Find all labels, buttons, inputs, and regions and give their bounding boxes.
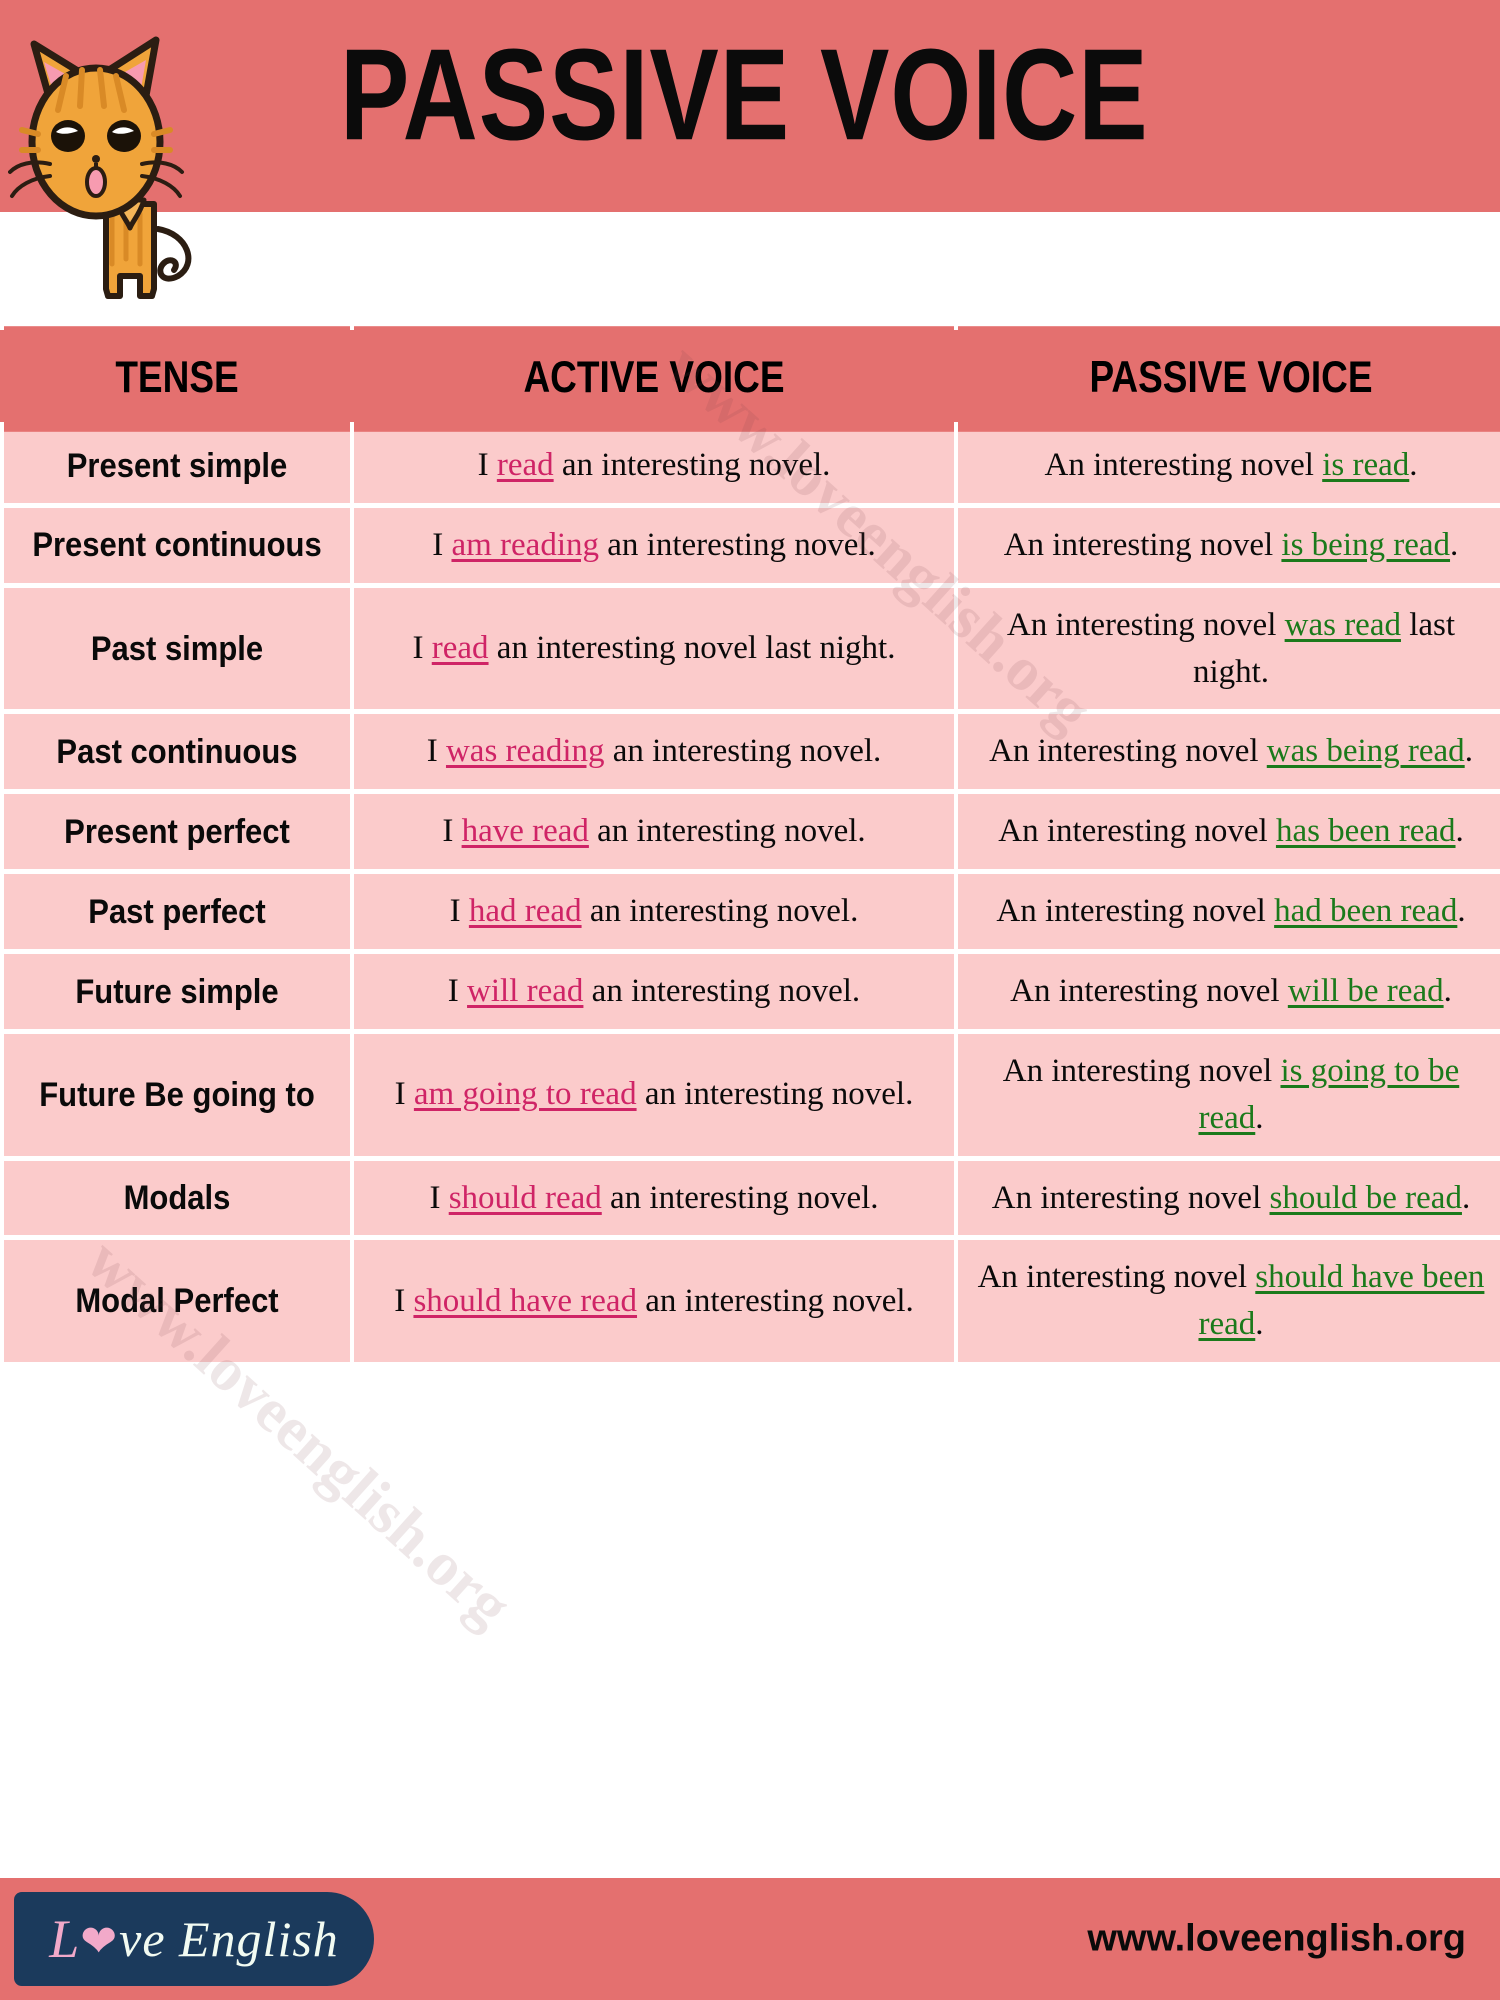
logo-text: L❤ve English bbox=[49, 1908, 339, 1970]
cartoon-cat-icon bbox=[8, 14, 238, 314]
cell-active-voice: I have read an interesting novel. bbox=[354, 794, 954, 869]
table-row: Past perfectI had read an interesting no… bbox=[4, 874, 1500, 949]
sentence-text: I should read an interesting novel. bbox=[366, 1175, 942, 1222]
table-row: Present perfectI have read an interestin… bbox=[4, 794, 1500, 869]
active-verb-highlight: have read bbox=[462, 813, 589, 849]
passive-verb-highlight: should have been read bbox=[1198, 1259, 1484, 1342]
sentence-text: An interesting novel was read last night… bbox=[970, 602, 1492, 696]
tense-label: Present perfect bbox=[16, 808, 338, 855]
active-verb-highlight: read bbox=[432, 630, 489, 666]
cell-active-voice: I read an interesting novel. bbox=[354, 428, 954, 503]
tense-label: Future Be going to bbox=[16, 1071, 338, 1118]
table-body: Present simpleI read an interesting nove… bbox=[4, 428, 1500, 1362]
passive-verb-highlight: was read bbox=[1285, 607, 1401, 643]
passive-verb-highlight: had been read bbox=[1274, 893, 1457, 929]
active-verb-highlight: am reading bbox=[451, 527, 599, 563]
sentence-text: I read an interesting novel last night. bbox=[366, 625, 942, 672]
page-title: PASSIVE VOICE bbox=[340, 28, 1149, 164]
sentence-text: An interesting novel had been read. bbox=[970, 888, 1492, 935]
tense-label: Past perfect bbox=[16, 888, 338, 935]
cell-passive-voice: An interesting novel is being read. bbox=[958, 508, 1500, 583]
cell-active-voice: I should have read an interesting novel. bbox=[354, 1240, 954, 1362]
table-row: Future simpleI will read an interesting … bbox=[4, 954, 1500, 1029]
active-verb-highlight: read bbox=[497, 447, 554, 483]
tense-label: Past simple bbox=[16, 625, 338, 672]
heart-icon: ❤ bbox=[80, 1920, 118, 1964]
sentence-text: I had read an interesting novel. bbox=[366, 888, 942, 935]
active-verb-highlight: should read bbox=[449, 1180, 602, 1216]
column-header-active-voice: ACTIVE VOICE bbox=[354, 326, 954, 432]
passive-verb-highlight: is read bbox=[1322, 447, 1409, 483]
cell-tense: Present simple bbox=[4, 428, 350, 503]
cell-active-voice: I am going to read an interesting novel. bbox=[354, 1034, 954, 1156]
table-row: Present continuousI am reading an intere… bbox=[4, 508, 1500, 583]
cell-tense: Past simple bbox=[4, 588, 350, 710]
sentence-text: An interesting novel is being read. bbox=[970, 522, 1492, 569]
cell-passive-voice: An interesting novel was read last night… bbox=[958, 588, 1500, 710]
active-verb-highlight: will read bbox=[467, 973, 583, 1009]
cell-tense: Past perfect bbox=[4, 874, 350, 949]
column-header-passive-voice: PASSIVE VOICE bbox=[958, 326, 1500, 432]
sentence-text: I am going to read an interesting novel. bbox=[366, 1071, 942, 1118]
sentence-text: An interesting novel is going to be read… bbox=[970, 1048, 1492, 1142]
cell-active-voice: I will read an interesting novel. bbox=[354, 954, 954, 1029]
cell-tense: Past continuous bbox=[4, 714, 350, 789]
table-row: ModalsI should read an interesting novel… bbox=[4, 1161, 1500, 1236]
logo-letter-l: L bbox=[49, 1908, 80, 1970]
sentence-text: I will read an interesting novel. bbox=[366, 968, 942, 1015]
cell-passive-voice: An interesting novel should have been re… bbox=[958, 1240, 1500, 1362]
table-row: Future Be going toI am going to read an … bbox=[4, 1034, 1500, 1156]
table-row: Present simpleI read an interesting nove… bbox=[4, 428, 1500, 503]
sentence-text: An interesting novel was being read. bbox=[970, 728, 1492, 775]
table-row: Past simpleI read an interesting novel l… bbox=[4, 588, 1500, 710]
active-verb-highlight: was reading bbox=[446, 733, 605, 769]
cell-passive-voice: An interesting novel should be read. bbox=[958, 1161, 1500, 1236]
table-row: Modal PerfectI should have read an inter… bbox=[4, 1240, 1500, 1362]
table-row: Past continuousI was reading an interest… bbox=[4, 714, 1500, 789]
passive-verb-highlight: will be read bbox=[1288, 973, 1444, 1009]
cell-tense: Present perfect bbox=[4, 794, 350, 869]
sentence-text: I should have read an interesting novel. bbox=[366, 1278, 942, 1325]
cell-passive-voice: An interesting novel was being read. bbox=[958, 714, 1500, 789]
cell-passive-voice: An interesting novel is read. bbox=[958, 428, 1500, 503]
cell-active-voice: I should read an interesting novel. bbox=[354, 1161, 954, 1236]
active-verb-highlight: had read bbox=[469, 893, 582, 929]
cell-tense: Future Be going to bbox=[4, 1034, 350, 1156]
voice-table-container: TENSE ACTIVE VOICE PASSIVE VOICE Present… bbox=[0, 330, 1500, 1367]
sentence-text: An interesting novel has been read. bbox=[970, 808, 1492, 855]
cell-tense: Modals bbox=[4, 1161, 350, 1236]
column-header-tense: TENSE bbox=[4, 326, 350, 432]
love-english-logo[interactable]: L❤ve English bbox=[14, 1892, 374, 1986]
sentence-text: An interesting novel will be read. bbox=[970, 968, 1492, 1015]
sentence-text: I am reading an interesting novel. bbox=[366, 522, 942, 569]
tense-label: Future simple bbox=[16, 968, 338, 1015]
active-verb-highlight: am going to read bbox=[414, 1076, 637, 1112]
tense-label: Modals bbox=[16, 1175, 338, 1222]
tense-label: Present simple bbox=[16, 442, 338, 489]
footer-band: L❤ve English www.loveenglish.org bbox=[0, 1878, 1500, 2000]
cell-active-voice: I was reading an interesting novel. bbox=[354, 714, 954, 789]
cell-active-voice: I am reading an interesting novel. bbox=[354, 508, 954, 583]
table-header-row: TENSE ACTIVE VOICE PASSIVE VOICE bbox=[4, 335, 1500, 423]
passive-verb-highlight: is going to be read bbox=[1198, 1053, 1459, 1136]
sentence-text: I read an interesting novel. bbox=[366, 442, 942, 489]
logo-rest-text: ve English bbox=[119, 1910, 339, 1968]
passive-verb-highlight: is being read bbox=[1281, 527, 1450, 563]
tense-label: Past continuous bbox=[16, 728, 338, 775]
cell-tense: Modal Perfect bbox=[4, 1240, 350, 1362]
active-verb-highlight: should have read bbox=[413, 1283, 637, 1319]
sentence-text: An interesting novel is read. bbox=[970, 442, 1492, 489]
cell-tense: Future simple bbox=[4, 954, 350, 1029]
sentence-text: I was reading an interesting novel. bbox=[366, 728, 942, 775]
passive-verb-highlight: has been read bbox=[1276, 813, 1456, 849]
passive-verb-highlight: was being read bbox=[1267, 733, 1465, 769]
cell-passive-voice: An interesting novel has been read. bbox=[958, 794, 1500, 869]
tense-label: Modal Perfect bbox=[16, 1278, 338, 1325]
cell-active-voice: I read an interesting novel last night. bbox=[354, 588, 954, 710]
sentence-text: An interesting novel should have been re… bbox=[970, 1254, 1492, 1348]
tense-label: Present continuous bbox=[16, 522, 338, 569]
cell-passive-voice: An interesting novel had been read. bbox=[958, 874, 1500, 949]
sentence-text: An interesting novel should be read. bbox=[970, 1175, 1492, 1222]
footer-website-url[interactable]: www.loveenglish.org bbox=[1087, 1918, 1466, 1961]
cell-tense: Present continuous bbox=[4, 508, 350, 583]
sentence-text: I have read an interesting novel. bbox=[366, 808, 942, 855]
cell-passive-voice: An interesting novel is going to be read… bbox=[958, 1034, 1500, 1156]
cell-passive-voice: An interesting novel will be read. bbox=[958, 954, 1500, 1029]
cell-active-voice: I had read an interesting novel. bbox=[354, 874, 954, 949]
voice-table: TENSE ACTIVE VOICE PASSIVE VOICE Present… bbox=[0, 330, 1500, 1367]
infographic-page: PASSIVE VOICE TENSE ACTIVE VOICE PASSIVE… bbox=[0, 0, 1500, 2000]
passive-verb-highlight: should be read bbox=[1270, 1180, 1462, 1216]
